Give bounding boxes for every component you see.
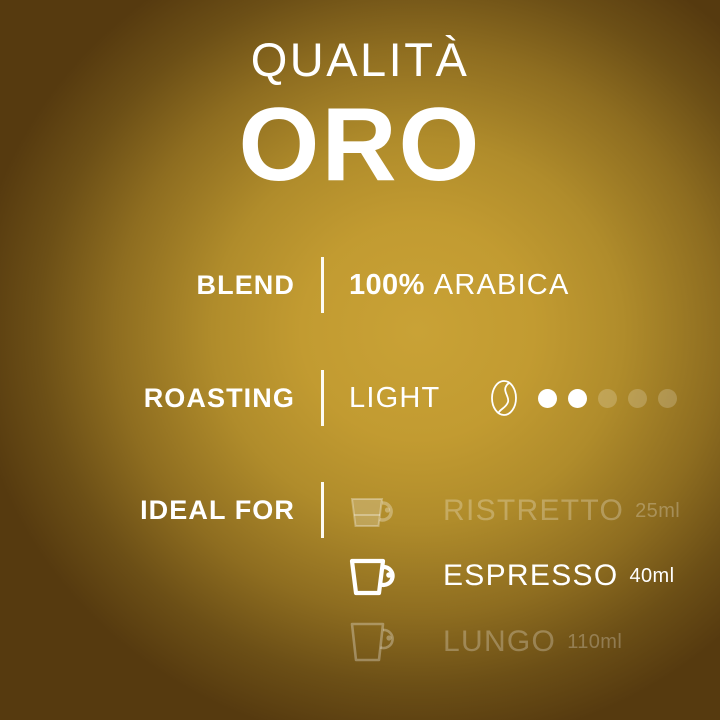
roast-dot-3 xyxy=(598,389,617,408)
roast-dot-1 xyxy=(538,389,557,408)
product-spec-card: QUALITÀ ORO BLEND 100% ARABICA ROASTING … xyxy=(0,0,720,720)
spec-label-ideal-for: IDEAL FOR xyxy=(0,497,295,524)
tall-cup-icon xyxy=(349,619,403,665)
spec-label-roasting: ROASTING xyxy=(0,385,295,412)
vertical-divider xyxy=(321,482,324,538)
drink-option-lungo: LUNGO 110ml xyxy=(349,613,622,671)
drink-size: 40ml xyxy=(629,566,674,586)
spec-label-blend: BLEND xyxy=(0,272,295,299)
spec-value-roasting: LIGHT xyxy=(349,379,720,417)
drink-name: LUNGO xyxy=(443,627,556,657)
blend-bean-type: ARABICA xyxy=(434,269,570,302)
spec-row-roasting: ROASTING LIGHT xyxy=(0,368,720,428)
coffee-bean-icon xyxy=(490,379,518,417)
drink-name: ESPRESSO xyxy=(443,561,618,591)
vertical-divider xyxy=(321,257,324,313)
small-cup-icon xyxy=(349,488,403,534)
drink-size: 25ml xyxy=(635,501,680,521)
divider-ideal-for xyxy=(295,482,349,538)
spec-value-blend: 100% ARABICA xyxy=(349,269,720,302)
blend-percentage: 100% xyxy=(349,269,425,302)
drink-name: RISTRETTO xyxy=(443,496,624,526)
roast-level-label: LIGHT xyxy=(349,382,440,415)
drink-option-espresso: ESPRESSO 40ml xyxy=(349,547,674,605)
medium-cup-icon xyxy=(349,553,403,599)
drink-size: 110ml xyxy=(567,632,622,652)
vertical-divider xyxy=(321,370,324,426)
divider-roasting xyxy=(295,370,349,426)
roast-strength-meter xyxy=(490,379,688,417)
roast-dot-5 xyxy=(658,389,677,408)
brand-title-block: QUALITÀ ORO xyxy=(0,36,720,197)
drink-option-ristretto: RISTRETTO 25ml xyxy=(349,482,680,540)
roast-dot-4 xyxy=(628,389,647,408)
spec-row-blend: BLEND 100% ARABICA xyxy=(0,255,720,315)
page-title-eyebrow: QUALITÀ xyxy=(0,36,720,83)
roast-dot-2 xyxy=(568,389,587,408)
page-title: ORO xyxy=(0,93,720,197)
divider-blend xyxy=(295,257,349,313)
